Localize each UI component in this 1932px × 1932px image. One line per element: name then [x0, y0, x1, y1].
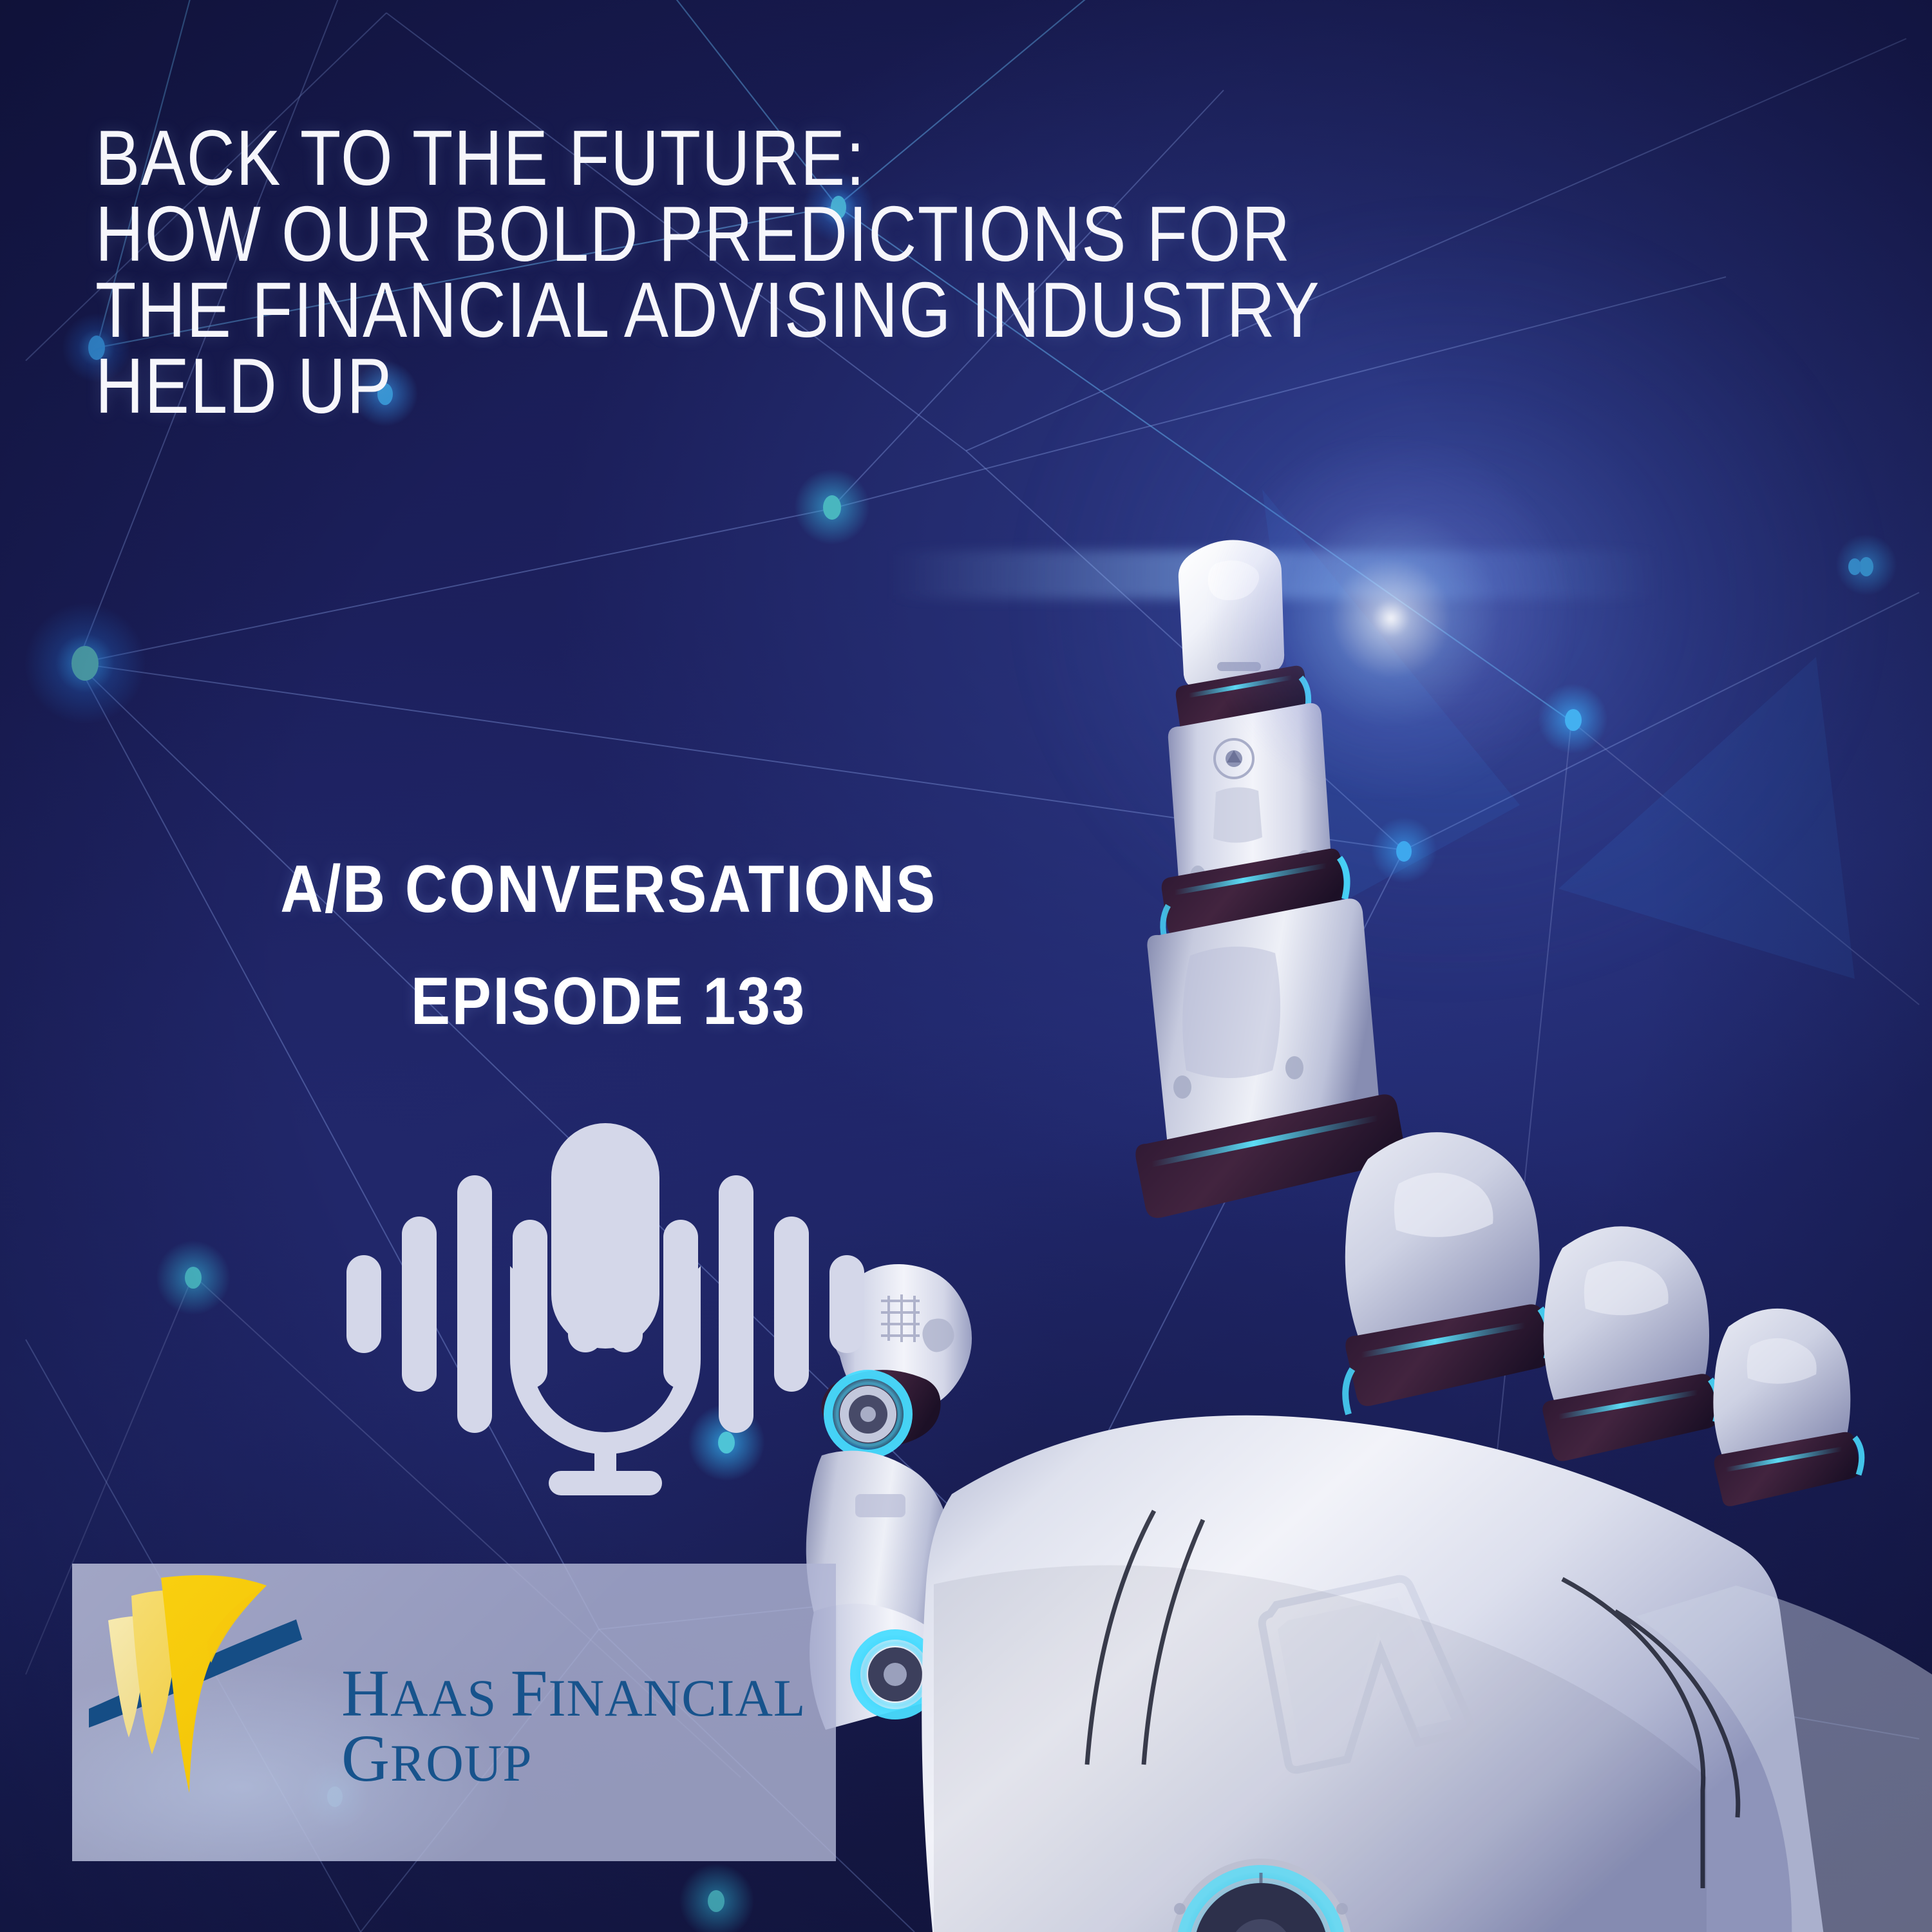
- title-line-2: HOW OUR BOLD PREDICTIONS FOR: [95, 196, 1354, 272]
- haas-financial-group-logo-panel: HAAS FINANCIAL GROUP: [72, 1564, 836, 1861]
- waveform-bar: [346, 1255, 381, 1353]
- waveform-bar: [719, 1175, 753, 1433]
- robot-hand-illustration: [799, 489, 1932, 1932]
- show-name: A/B CONVERSATIONS: [73, 853, 1144, 925]
- logo-wordmark: HAAS FINANCIAL GROUP: [341, 1662, 806, 1792]
- title-line-1: BACK TO THE FUTURE:: [95, 120, 1354, 196]
- logo-line-1: HAAS FINANCIAL: [341, 1662, 806, 1727]
- podcast-cover-art: BACK TO THE FUTURE: HOW OUR BOLD PREDICT…: [0, 0, 1932, 1932]
- waveform-bar: [663, 1220, 698, 1388]
- microphone-waveform-icon: [335, 1114, 876, 1494]
- waveform-bar: [829, 1255, 864, 1353]
- haas-three-flames-mark: [89, 1571, 359, 1855]
- title-line-3: THE FINANCIAL ADVISING INDUSTRY: [95, 272, 1354, 348]
- waveform-bar: [774, 1217, 809, 1392]
- waveform-bar: [457, 1175, 492, 1433]
- episode-number: EPISODE 133: [73, 965, 1144, 1037]
- episode-title: BACK TO THE FUTURE: HOW OUR BOLD PREDICT…: [95, 120, 1577, 424]
- waveform-bar: [402, 1217, 437, 1392]
- show-identity: A/B CONVERSATIONS EPISODE 133: [0, 853, 1217, 1037]
- waveform-bar: [608, 1256, 643, 1352]
- microphone-base: [549, 1471, 662, 1495]
- title-line-4: HELD UP: [95, 348, 1354, 424]
- logo-line-2: GROUP: [341, 1727, 806, 1792]
